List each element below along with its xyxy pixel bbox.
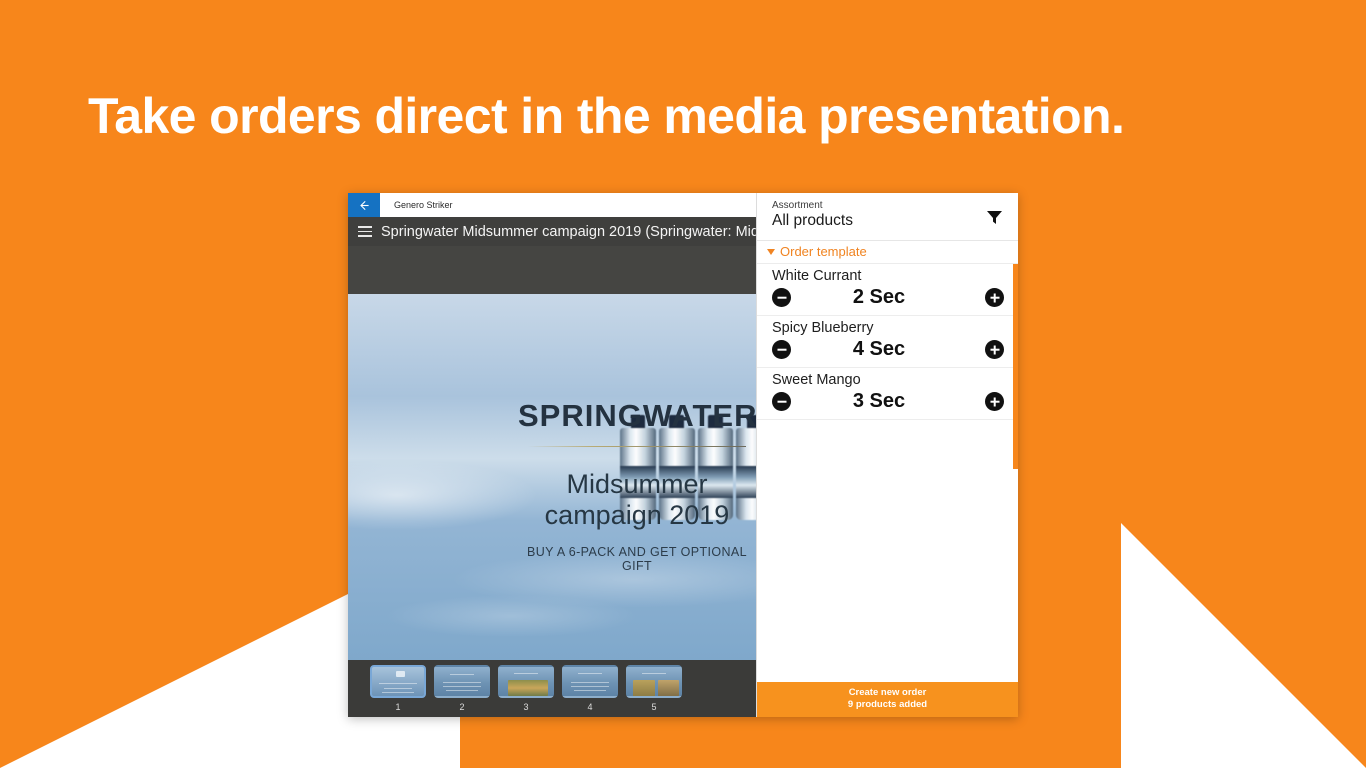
minus-circle-icon[interactable]	[772, 392, 791, 411]
thumbnail-image-4[interactable]	[562, 665, 618, 698]
plus-circle-icon[interactable]	[985, 392, 1004, 411]
window-body: SPRINGWATER Midsummer campaign 2019 BUY …	[348, 246, 1018, 717]
decorative-triangle-bottom-right	[1121, 523, 1366, 768]
product-quantity: 2 Sec	[791, 286, 985, 309]
slide-thumbnail-strip: 1 2	[348, 660, 756, 717]
order-template-section-header[interactable]: Order template	[757, 241, 1018, 264]
assortment-label: Assortment	[772, 200, 985, 211]
slide-brand-title: SPRINGWATER	[518, 398, 756, 434]
panel-scrollbar[interactable]	[1013, 264, 1018, 469]
assortment-selector[interactable]: Assortment All products	[757, 193, 1018, 241]
product-name: Spicy Blueberry	[772, 320, 1004, 336]
thumbnail-item[interactable]: 2	[434, 665, 490, 712]
thumbnail-item[interactable]: 3	[498, 665, 554, 712]
product-row: Spicy Blueberry 4 Sec	[757, 316, 1018, 368]
create-order-title: Create new order	[757, 687, 1018, 699]
create-new-order-button[interactable]: Create new order 9 products added	[757, 682, 1018, 717]
order-panel: Assortment All products Order template	[756, 193, 1018, 717]
plus-circle-icon[interactable]	[985, 288, 1004, 307]
assortment-value: All products	[772, 212, 985, 230]
thumbnail-item[interactable]: 5	[626, 665, 682, 712]
media-viewer: SPRINGWATER Midsummer campaign 2019 BUY …	[348, 246, 756, 717]
slide-divider	[528, 446, 747, 447]
plus-circle-icon[interactable]	[985, 340, 1004, 359]
slide-canvas: Take orders direct in the media presenta…	[0, 0, 1366, 768]
thumbnail-image-5[interactable]	[626, 665, 682, 698]
hamburger-icon[interactable]	[348, 226, 381, 237]
product-row: Sweet Mango 3 Sec	[757, 368, 1018, 420]
slide-kicker-text: BUY A 6-PACK AND GET OPTIONAL GIFT	[518, 545, 756, 573]
thumbnail-item[interactable]: 1	[370, 665, 426, 712]
product-name: White Currant	[772, 268, 1004, 284]
slide-preview[interactable]: SPRINGWATER Midsummer campaign 2019 BUY …	[348, 294, 756, 660]
back-arrow-icon[interactable]	[348, 193, 380, 217]
product-list: White Currant 2 Sec Spicy Blueberry 4 Se…	[757, 264, 1018, 682]
thumbnail-image-2[interactable]	[434, 665, 490, 698]
quantity-stepper: 4 Sec	[772, 338, 1004, 361]
chevron-down-icon	[767, 249, 775, 255]
product-row: White Currant 2 Sec	[757, 264, 1018, 316]
product-name: Sweet Mango	[772, 372, 1004, 388]
thumbnail-number: 4	[562, 702, 618, 712]
product-quantity: 3 Sec	[791, 390, 985, 413]
thumbnail-item[interactable]: 4	[562, 665, 618, 712]
thumbnail-number: 2	[434, 702, 490, 712]
minus-circle-icon[interactable]	[772, 340, 791, 359]
assortment-texts: Assortment All products	[772, 200, 985, 230]
minus-circle-icon[interactable]	[772, 288, 791, 307]
thumbnail-image-3[interactable]	[498, 665, 554, 698]
viewer-toolbar	[348, 246, 756, 294]
application-window: Genero Striker Springwater Midsummer cam…	[348, 193, 1018, 717]
thumbnail-number: 1	[370, 702, 426, 712]
quantity-stepper: 2 Sec	[772, 286, 1004, 309]
slide-headline: Take orders direct in the media presenta…	[88, 83, 1288, 149]
thumbnail-number: 5	[626, 702, 682, 712]
thumbnail-image-1[interactable]	[370, 665, 426, 698]
thumbnail-number: 3	[498, 702, 554, 712]
slide-subtitle: Midsummer campaign 2019	[518, 469, 756, 531]
create-order-subtitle: 9 products added	[757, 699, 1018, 711]
slide-text-block: SPRINGWATER Midsummer campaign 2019 BUY …	[348, 398, 756, 573]
order-template-label: Order template	[780, 244, 867, 259]
product-quantity: 4 Sec	[791, 338, 985, 361]
quantity-stepper: 3 Sec	[772, 390, 1004, 413]
filter-funnel-icon[interactable]	[985, 200, 1006, 232]
